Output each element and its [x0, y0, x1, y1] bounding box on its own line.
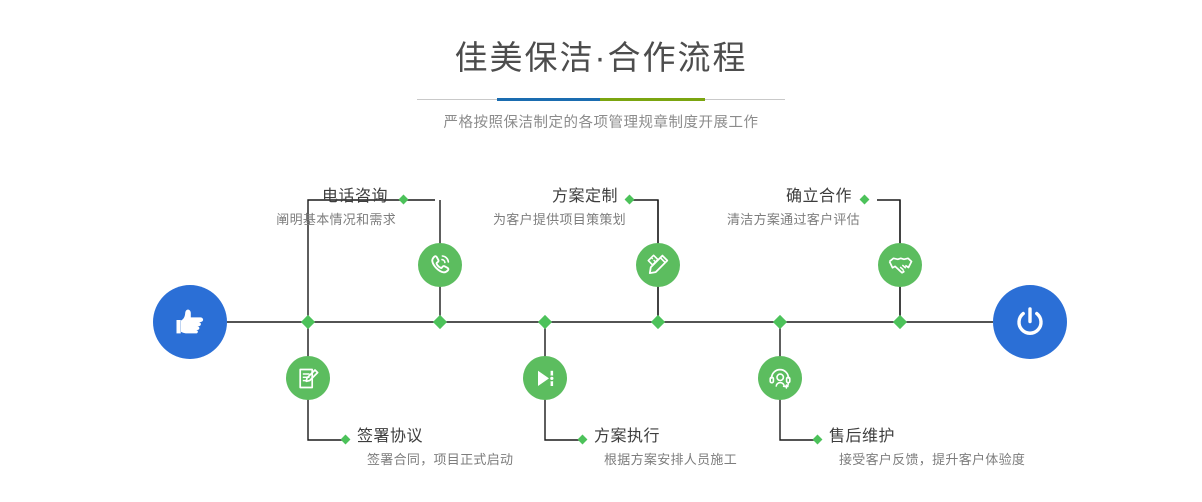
- step-node-plan-design[interactable]: [636, 243, 680, 287]
- step-desc: 阐明基本情况和需求: [276, 210, 400, 230]
- step-title: 电话咨询: [276, 186, 400, 208]
- headset-support-icon: [767, 365, 793, 391]
- label-diamond-markers: [341, 195, 870, 445]
- step-node-sign-agreement[interactable]: [286, 356, 330, 400]
- play-execute-icon: [533, 366, 558, 391]
- step-desc: 为客户提供项目策策划: [493, 210, 630, 230]
- power-icon: [1010, 302, 1050, 342]
- step-text-cooperation: 确立合作 清洁方案通过客户评估: [727, 186, 864, 230]
- step-node-after-sales[interactable]: [758, 356, 802, 400]
- step-title: 方案执行: [582, 426, 737, 448]
- pointing-hand-icon: [170, 302, 210, 342]
- timeline-end-cap[interactable]: [993, 285, 1067, 359]
- step-text-phone-call: 电话咨询 阐明基本情况和需求: [276, 186, 400, 230]
- step-text-sign-agreement: 签署协议 签署合同，项目正式启动: [345, 426, 513, 470]
- handshake-icon: [887, 252, 914, 279]
- sign-document-icon: [296, 366, 321, 391]
- phone-call-icon: [427, 252, 453, 278]
- step-desc: 签署合同，项目正式启动: [345, 450, 513, 470]
- step-node-execute-plan[interactable]: [523, 356, 567, 400]
- step-title: 方案定制: [493, 186, 630, 208]
- timeline-start-cap[interactable]: [153, 285, 227, 359]
- step-text-execute-plan: 方案执行 根据方案安排人员施工: [582, 426, 737, 470]
- step-text-plan-design: 方案定制 为客户提供项目策策划: [493, 186, 630, 230]
- process-timeline: 电话咨询 阐明基本情况和需求 方案定制 为客户提供项目策策划 确: [0, 0, 1202, 502]
- step-title: 签署协议: [345, 426, 513, 448]
- step-desc: 根据方案安排人员施工: [582, 450, 737, 470]
- step-node-phone-call[interactable]: [418, 243, 462, 287]
- step-text-after-sales: 售后维护 接受客户反馈，提升客户体验度: [817, 426, 1025, 470]
- pencil-ruler-icon: [645, 252, 671, 278]
- step-node-cooperation[interactable]: [878, 243, 922, 287]
- step-title: 确立合作: [727, 186, 864, 208]
- step-title: 售后维护: [817, 426, 1025, 448]
- step-desc: 接受客户反馈，提升客户体验度: [817, 450, 1025, 470]
- step-desc: 清洁方案通过客户评估: [727, 210, 864, 230]
